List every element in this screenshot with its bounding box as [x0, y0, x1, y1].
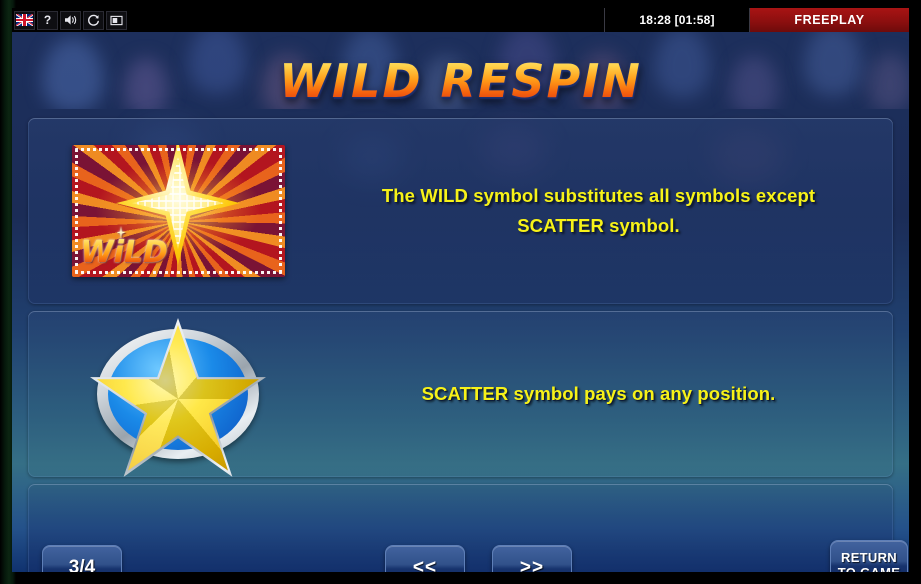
return-to-game-label-line-2: TO GAME: [838, 565, 901, 572]
return-to-game-label-line-1: RETURN: [841, 550, 897, 565]
freeplay-badge: FREEPLAY: [750, 8, 909, 32]
previous-page-label: <<: [413, 557, 437, 572]
wild-symbol-cell: WiLD: [28, 145, 328, 277]
toolbar-icon-group: ?: [12, 8, 129, 32]
wild-text-cell: The WILD symbol substitutes all symbols …: [328, 181, 893, 241]
next-page-label: >>: [520, 557, 544, 572]
wild-description-line-2: SCATTER symbol.: [328, 211, 869, 241]
scatter-description-line-1: SCATTER symbol pays on any position.: [328, 379, 869, 409]
return-to-game-button[interactable]: RETURN TO GAME: [830, 540, 908, 572]
scatter-symbol-cell: [28, 318, 328, 470]
clock-display: 18:28 [01:58]: [604, 8, 750, 32]
scatter-symbol: [88, 318, 268, 470]
scatter-info-panel: SCATTER symbol pays on any position.: [28, 311, 893, 477]
window-mode-icon: [110, 15, 123, 26]
previous-page-button[interactable]: <<: [385, 545, 465, 572]
language-flag-button[interactable]: [14, 11, 35, 30]
sound-icon: [64, 14, 78, 26]
language-flag-icon: [16, 14, 33, 26]
help-button[interactable]: ?: [37, 11, 58, 30]
reload-icon: [87, 14, 100, 27]
next-page-button[interactable]: >>: [492, 545, 572, 572]
scatter-text-cell: SCATTER symbol pays on any position.: [328, 379, 893, 409]
wild-symbol-caption: WiLD: [81, 235, 168, 270]
top-status-bar: ?: [12, 8, 909, 32]
page-indicator-label: 3/4: [69, 557, 95, 572]
wild-symbol: WiLD: [72, 145, 285, 277]
game-frame: ?: [0, 0, 921, 584]
game-stage: WILD RESPIN WiLD The WILD symbo: [12, 32, 909, 572]
wild-info-panel: WiLD The WILD symbol substitutes all sym…: [28, 118, 893, 304]
page-indicator-button[interactable]: 3/4: [42, 545, 122, 572]
game-screen: ?: [12, 8, 909, 572]
wild-description-line-1: The WILD symbol substitutes all symbols …: [328, 181, 869, 211]
sound-button[interactable]: [60, 11, 81, 30]
game-title: WILD RESPIN: [12, 54, 909, 108]
window-mode-button[interactable]: [106, 11, 127, 30]
help-icon: ?: [44, 14, 51, 26]
toolbar-spacer: [129, 8, 604, 32]
reload-button[interactable]: [83, 11, 104, 30]
